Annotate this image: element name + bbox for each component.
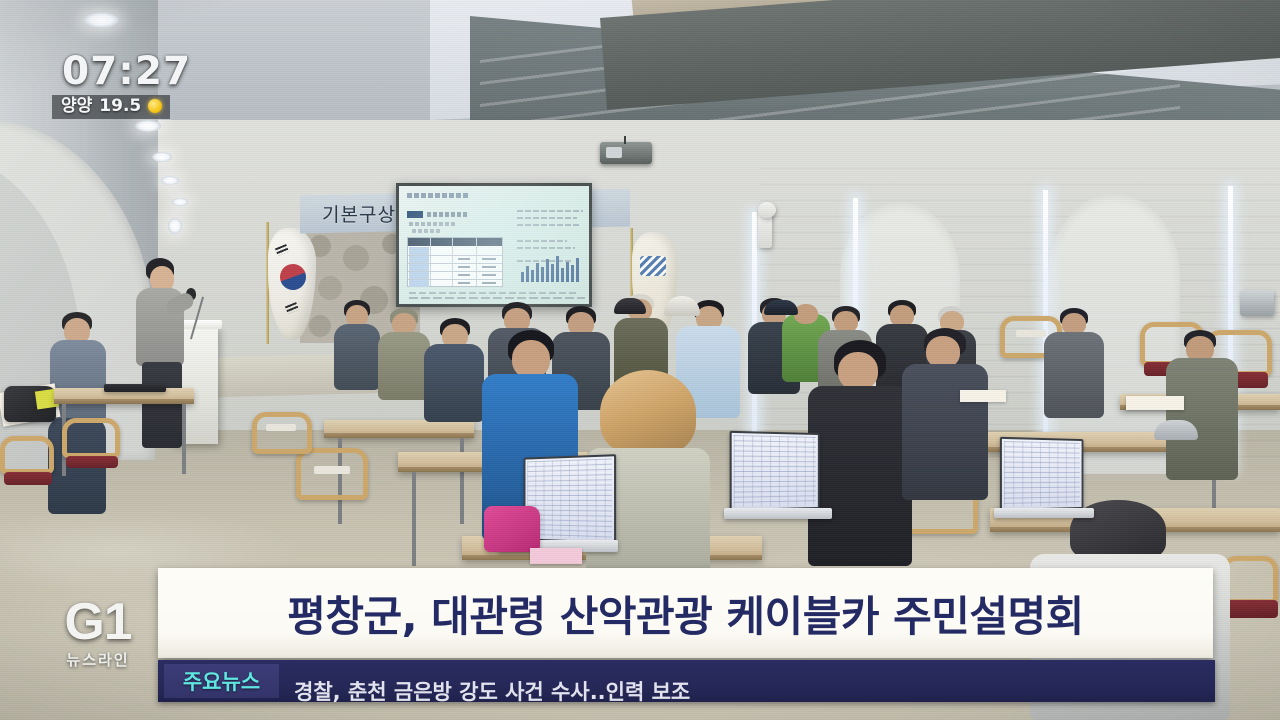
slide-cell-text [458,274,470,276]
projection-screen-frame [396,183,592,307]
presenter [128,258,198,448]
chair [252,412,314,474]
attendee-cap [614,298,646,314]
presenter-trousers [142,362,182,448]
chair-back [252,412,312,454]
slide-table-highlight [409,247,429,287]
slide-cell-text [458,258,470,260]
slide-right-text [517,224,581,226]
chair-seat [1224,600,1278,618]
desk-leg [412,472,416,566]
slide-bullet [412,229,442,233]
slide-footnote [409,297,585,299]
station-logo-text: G1 [38,598,158,647]
chair-back [62,418,120,458]
chair [62,418,122,484]
desk-leg [460,438,464,524]
event-banner-text: 기본구상 [322,200,396,227]
chair-plate [266,424,296,431]
laptop-base [994,508,1094,518]
slide-table-rowline [408,263,502,264]
chair-plate [314,466,350,474]
station-logo: G1 뉴스라인 [38,598,158,670]
slide-right-text [517,247,575,249]
ceiling-light [135,120,161,132]
laptop-screen [730,431,820,511]
slide-bar [526,266,529,282]
chair-back [1222,556,1278,604]
weather-temperature: 19.5 [99,97,141,116]
attendee [808,340,912,566]
desk-edge [54,399,194,404]
slide-bar [551,264,554,282]
slide-cell-text [482,258,496,260]
program-name: 뉴스라인 [38,649,158,670]
slide-cell-text [482,266,496,268]
slide-title [407,193,469,198]
korean-flag [262,222,322,344]
slide-bullet [409,222,455,226]
chair-plate [1016,330,1046,337]
attendee [660,296,704,352]
weather-city: 양양 [61,97,92,116]
laptop-base [724,508,832,519]
news-ticker-bar: 주요뉴스 경찰, 춘천 금은방 강도 사건 수사..인력 보조 [158,660,1215,702]
slide-footnote [409,292,579,294]
attendee [334,300,380,390]
ceiling-projector [600,142,652,164]
documents [530,548,582,564]
chair-seat [4,472,52,485]
clock-time: 07:27 [52,52,182,91]
slide-table-rowline [408,255,502,256]
attendee [764,300,800,338]
slide-bar [576,258,579,282]
slide-bar [541,267,544,282]
slide-right-text [517,240,567,242]
attendee [1148,420,1204,480]
documents [1126,396,1184,410]
attendee [614,298,648,338]
chair-seat [66,456,118,468]
attendee-torso [334,324,380,390]
slide-table-rowline [408,279,502,280]
weather-strip: 양양 19.5 [52,95,170,119]
chair [0,436,56,506]
slide-bar [546,259,549,282]
attendee [378,308,430,400]
ticker-label: 주요뉴스 [164,664,279,698]
slide-cell-text [482,274,496,276]
attendee-cap [1154,420,1198,440]
slide-subtitle [427,212,469,217]
slide-table-colline [476,238,477,286]
slide-bar [521,272,524,282]
attendee-torso [378,332,430,400]
slide-bar [531,270,534,282]
attendee-head [838,352,878,390]
attendee [902,328,988,500]
attendee-head [512,340,550,378]
attendee [1044,308,1104,418]
attendee-torso [1044,332,1104,418]
documents [960,390,1006,402]
slide-bar [561,268,564,282]
slide-table [407,237,503,287]
slide-badge [407,211,423,218]
headline-text: 평창군, 대관령 산악관광 케이블카 주민설명회 [287,583,1084,644]
slide-cell-text [458,282,470,284]
attendee [424,318,484,422]
slide-bar [556,256,559,282]
slide-table-colline [430,238,431,286]
flag-emblem [640,256,666,276]
pink-bag [484,506,540,552]
desk [324,420,474,438]
ticker-label-text: 주요뉴스 [183,666,260,696]
slide-bar [566,262,569,282]
slide-bar [536,263,539,282]
slide-bar [571,265,574,282]
wall-monitor [1240,290,1274,316]
slide-bar-chart [521,256,585,282]
desk-leg [182,404,186,474]
attendee-torso [808,386,912,566]
headline-bar: 평창군, 대관령 산악관광 케이블카 주민설명회 [158,568,1213,658]
slide-table-rowline [408,271,502,272]
clock-weather-overlay: 07:27 양양 19.5 [52,52,182,119]
slide-cell-text [458,266,470,268]
laptop-screen [1000,437,1084,511]
attendee-torso [424,344,484,422]
attendee-hair [600,370,696,456]
slide-cell-text [482,282,496,284]
broadcast-frame: 기본구상 [0,0,1280,720]
slide-right-text [517,210,583,212]
ceiling-light [83,12,119,28]
projection-screen [399,186,589,304]
ticker-text: 경찰, 춘천 금은방 강도 사건 수사..인력 보조 [294,676,690,702]
attendee-cap [764,300,798,315]
wall-speaker [758,202,776,218]
slide-table-colline [452,238,453,286]
attendee-torso [902,364,988,500]
chair-back [0,436,54,474]
laptop [104,384,166,392]
chair [1222,556,1280,628]
attendee-cap [664,296,700,316]
slide-table-header [408,238,502,246]
sun-icon [148,99,162,113]
desk-edge [324,433,474,438]
slide-right-text [517,217,577,219]
